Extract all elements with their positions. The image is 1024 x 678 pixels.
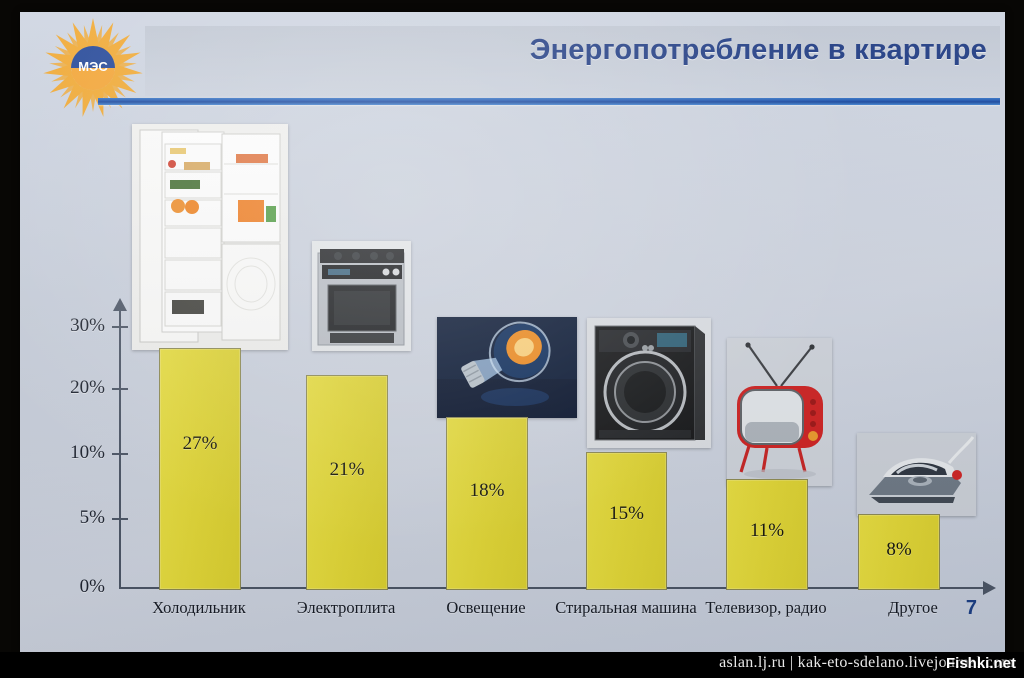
bar-value-tv-radio: 11%	[727, 520, 807, 542]
bar-chart: 30% 20% 10% 5% 0% 27% 21%	[20, 12, 1005, 652]
bar-value-other: 8%	[859, 539, 939, 561]
y-tick-label-20: 20%	[37, 377, 105, 399]
fishki-watermark-badge: Fishki.net	[946, 655, 1016, 672]
x-label-lighting: Освещение	[406, 598, 566, 617]
y-tick-label-0: 0%	[37, 576, 105, 598]
electric-stove-photo	[312, 241, 411, 351]
bar-value-washing-machine: 15%	[587, 503, 666, 525]
y-tick-20	[112, 388, 128, 390]
y-axis-arrow	[113, 298, 127, 311]
presentation-slide: МЭС Энергопотребление в квартире	[20, 12, 1005, 652]
retro-television-photo	[727, 338, 832, 486]
y-tick-30	[112, 326, 128, 328]
x-label-refrigerator: Холодильник	[119, 598, 279, 617]
bar-value-lighting: 18%	[447, 480, 527, 502]
x-axis-arrow	[983, 581, 996, 595]
bar-other[interactable]: 8%	[858, 514, 940, 590]
y-tick-label-30: 30%	[37, 315, 105, 337]
bar-value-refrigerator: 27%	[160, 433, 240, 455]
washing-machine-photo	[587, 318, 711, 448]
watermark-bar: aslan.lj.ru | kak-eto-sdelano.livejourna…	[0, 652, 1024, 678]
light-bulb-photo	[437, 317, 577, 418]
bar-lighting[interactable]: 18%	[446, 417, 528, 590]
bar-washing-machine[interactable]: 15%	[586, 452, 667, 590]
screenshot-root: МЭС Энергопотребление в квартире	[0, 0, 1024, 678]
bar-value-electric-stove: 21%	[307, 459, 387, 481]
y-tick-5	[112, 518, 128, 520]
bar-electric-stove[interactable]: 21%	[306, 375, 388, 590]
y-axis-line	[119, 308, 121, 589]
clothes-iron-photo	[857, 433, 976, 516]
bar-tv-radio[interactable]: 11%	[726, 479, 808, 590]
x-label-washing-machine: Стиральная машина	[551, 598, 701, 617]
y-tick-label-10: 10%	[37, 442, 105, 464]
refrigerator-photo	[132, 124, 288, 350]
bar-refrigerator[interactable]: 27%	[159, 348, 241, 590]
slide-page-number: 7	[966, 597, 977, 620]
x-label-tv-radio: Телевизор, радио	[691, 598, 841, 617]
y-tick-10	[112, 453, 128, 455]
y-tick-label-5: 5%	[37, 507, 105, 529]
x-label-electric-stove: Электроплита	[266, 598, 426, 617]
